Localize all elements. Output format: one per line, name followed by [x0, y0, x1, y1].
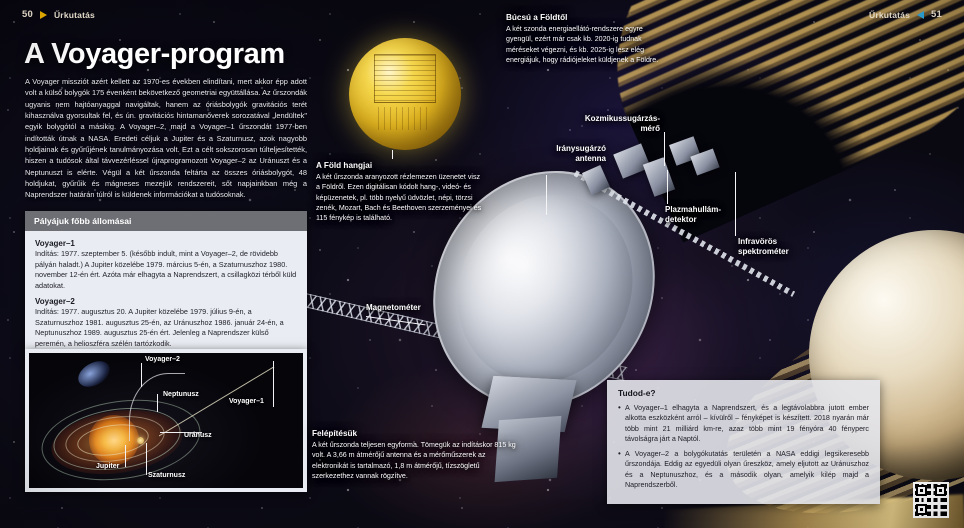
- milestones-body: Voyager–1 Indítás: 1977. szeptember 5. (…: [25, 231, 307, 359]
- textbook-spread: 50 Űrkutatás Űrkutatás 51 A Voyager-prog…: [0, 0, 964, 528]
- label-infrared-spectrometer: Infravörös spektrométer: [738, 237, 830, 257]
- orbit-label-neptunusz: Neptunusz: [163, 391, 199, 398]
- orbit-diagram-canvas: Voyager–2 Neptunusz Voyager–1 Uránusz Ju…: [29, 353, 303, 488]
- leader-neptunusz: [157, 394, 158, 412]
- leader-plasma-wave-detector: [667, 170, 668, 204]
- orbit-label-szaturnusz: Szaturnusz: [148, 472, 185, 479]
- did-you-know-box: Tudod-e? A Voyager–1 elhagyta a Naprends…: [607, 380, 880, 504]
- qr-finder-top-right: [935, 485, 946, 496]
- callout-sounds-text: A két űrszonda aranyozott rézlemezen üze…: [316, 172, 484, 224]
- callout-farewell-text: A két szonda energiaellátó-rendszere egy…: [506, 24, 671, 65]
- callout-farewell: Búcsú a Földtől A két szonda energiaellá…: [506, 13, 671, 65]
- leader-szaturnusz: [146, 443, 147, 475]
- qr-code-icon[interactable]: [913, 482, 949, 518]
- triangle-right-icon: [40, 11, 47, 19]
- list-item: A Voyager–2 a bolygókutatás területén a …: [618, 449, 869, 491]
- orbit-label-voyager1: Voyager–1: [229, 398, 264, 405]
- record-etching-diagram: [374, 54, 437, 103]
- section-label-right: Űrkutatás: [869, 10, 910, 20]
- leader-voyager1: [273, 361, 274, 407]
- did-you-know-heading: Tudod-e?: [618, 388, 869, 398]
- page-number-left: 50: [22, 9, 33, 20]
- callout-construction-heading: Felépítésük: [312, 429, 517, 438]
- leader-jupiter: [125, 445, 126, 467]
- milestone-text-voyager1: Indítás: 1977. szeptember 5. (később ind…: [35, 249, 297, 291]
- milestones-panel: Pályájuk főbb állomásai Voyager–1 Indítá…: [25, 211, 307, 359]
- label-cosmic-ray-detector: Kozmikussugárzás- mérő: [534, 114, 660, 134]
- record-etching-waveform: [378, 107, 427, 129]
- background-galaxy: [74, 356, 114, 392]
- label-directional-antenna: Iránysugárzó antenna: [514, 144, 606, 164]
- section-label-left: Űrkutatás: [54, 10, 95, 20]
- callout-sounds-of-earth: A Föld hangjai A két űrszonda aranyozott…: [316, 161, 484, 224]
- leader-golden-record: [392, 150, 393, 159]
- leader-infrared-spectrometer: [735, 172, 736, 236]
- label-magnetometer: Magnetométer: [366, 303, 466, 313]
- callout-farewell-heading: Búcsú a Földtől: [506, 13, 671, 22]
- leader-voyager2: [141, 363, 142, 387]
- leader-directional-antenna: [546, 175, 547, 215]
- milestones-heading: Pályájuk főbb állomásai: [25, 211, 307, 231]
- milestone-name-voyager2: Voyager–2: [35, 297, 297, 306]
- label-plasma-wave-detector: Plazmahullám- detektor: [665, 205, 763, 225]
- orbit-label-jupiter: Jupiter: [96, 463, 119, 470]
- callout-construction: Felépítésük A két űrszonda teljesen egyf…: [312, 429, 517, 481]
- folio-right: Űrkutatás 51: [869, 9, 942, 20]
- page-number-right: 51: [931, 9, 942, 20]
- qr-finder-bottom-left: [916, 504, 927, 515]
- milestone-name-voyager1: Voyager–1: [35, 239, 297, 248]
- callout-sounds-heading: A Föld hangjai: [316, 161, 484, 170]
- folio-left: 50 Űrkutatás: [22, 9, 95, 20]
- orbit-label-voyager2: Voyager–2: [145, 356, 180, 363]
- did-you-know-list: A Voyager–1 elhagyta a Naprendszert, és …: [618, 403, 869, 491]
- orbit-label-uranusz: Uránusz: [184, 432, 212, 439]
- callout-construction-text: A két űrszonda teljesen egyforma. Tömegü…: [312, 440, 517, 481]
- leader-cosmic-ray-detector: [664, 132, 665, 166]
- milestone-text-voyager2: Indítás: 1977. augusztus 20. A Jupiter k…: [35, 307, 297, 349]
- orbit-diagram-figure: Voyager–2 Neptunusz Voyager–1 Uránusz Ju…: [25, 349, 307, 492]
- qr-finder-top-left: [916, 485, 927, 496]
- golden-record-disc: [349, 38, 461, 150]
- list-item: A Voyager–1 elhagyta a Naprendszert, és …: [618, 403, 869, 445]
- page-title: A Voyager-program: [24, 38, 285, 71]
- intro-paragraph: A Voyager missziót azért kellett az 1970…: [25, 76, 307, 201]
- golden-record-artwork: [349, 38, 461, 150]
- triangle-left-icon: [917, 11, 924, 19]
